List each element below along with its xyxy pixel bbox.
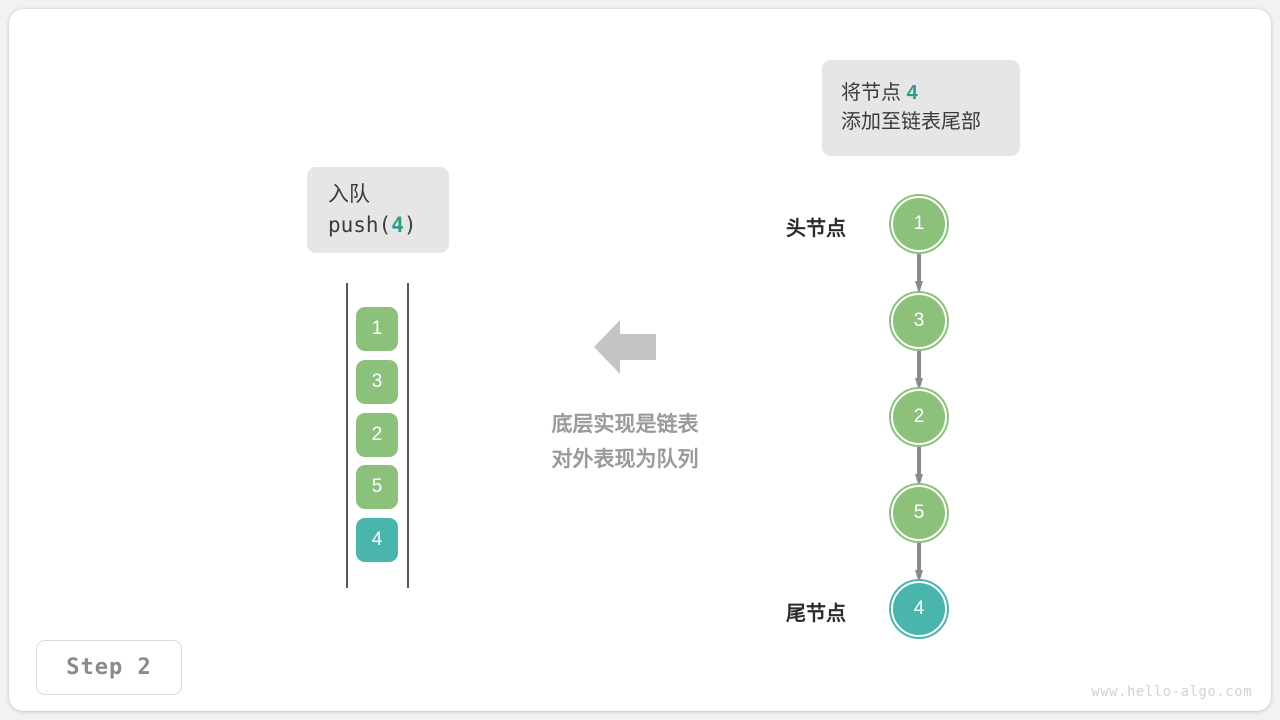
push-annotation-line-2: push(4) <box>328 210 449 240</box>
list-node: 1 <box>891 196 947 252</box>
queue-rail-right <box>407 283 409 588</box>
list-link-arrow-new <box>915 543 923 583</box>
queue-cell: 5 <box>356 465 398 509</box>
list-link-arrow <box>915 254 923 294</box>
queue-rail-left <box>346 283 348 588</box>
step-badge: Step 2 <box>36 640 182 695</box>
queue-cell: 3 <box>356 360 398 404</box>
list-node: 5 <box>891 485 947 541</box>
tail-annotation-line-2: 添加至链表尾部 <box>841 108 1020 137</box>
list-node: 2 <box>891 389 947 445</box>
queue-column: 1 3 2 5 4 <box>340 283 416 588</box>
linked-list-column: 1 3 2 5 4 <box>860 190 990 645</box>
push-annotation-box: 入队 push(4) <box>307 167 449 253</box>
center-caption-line-1: 底层实现是链表 <box>500 408 750 443</box>
queue-cell: 2 <box>356 413 398 457</box>
tail-annotation-box: 将节点 4 添加至链表尾部 <box>822 60 1020 156</box>
queue-cell: 1 <box>356 307 398 351</box>
list-link-arrow <box>915 447 923 487</box>
tail-annotation-line-1: 将节点 4 <box>841 79 1020 108</box>
push-call-suffix: ) <box>404 213 417 237</box>
queue-cell-new: 4 <box>356 518 398 562</box>
center-caption: 底层实现是链表 对外表现为队列 <box>500 408 750 477</box>
push-annotation-line-1: 入队 <box>328 180 449 210</box>
tail-node-label: 尾节点 <box>786 597 846 626</box>
push-call-value: 4 <box>391 213 404 237</box>
list-link-arrow <box>915 351 923 391</box>
tail-annotation-prefix: 将节点 <box>841 82 907 104</box>
head-node-label: 头节点 <box>786 212 846 241</box>
list-node-new: 4 <box>891 581 947 637</box>
watermark: www.hello-algo.com <box>1091 684 1252 700</box>
center-caption-line-2: 对外表现为队列 <box>500 443 750 478</box>
push-call-prefix: push( <box>328 213 391 237</box>
tail-annotation-value: 4 <box>907 82 918 104</box>
left-arrow-icon <box>594 318 656 376</box>
diagram-canvas: 入队 push(4) 将节点 4 添加至链表尾部 1 3 2 5 4 底层实现是… <box>0 0 1280 720</box>
list-node: 3 <box>891 293 947 349</box>
